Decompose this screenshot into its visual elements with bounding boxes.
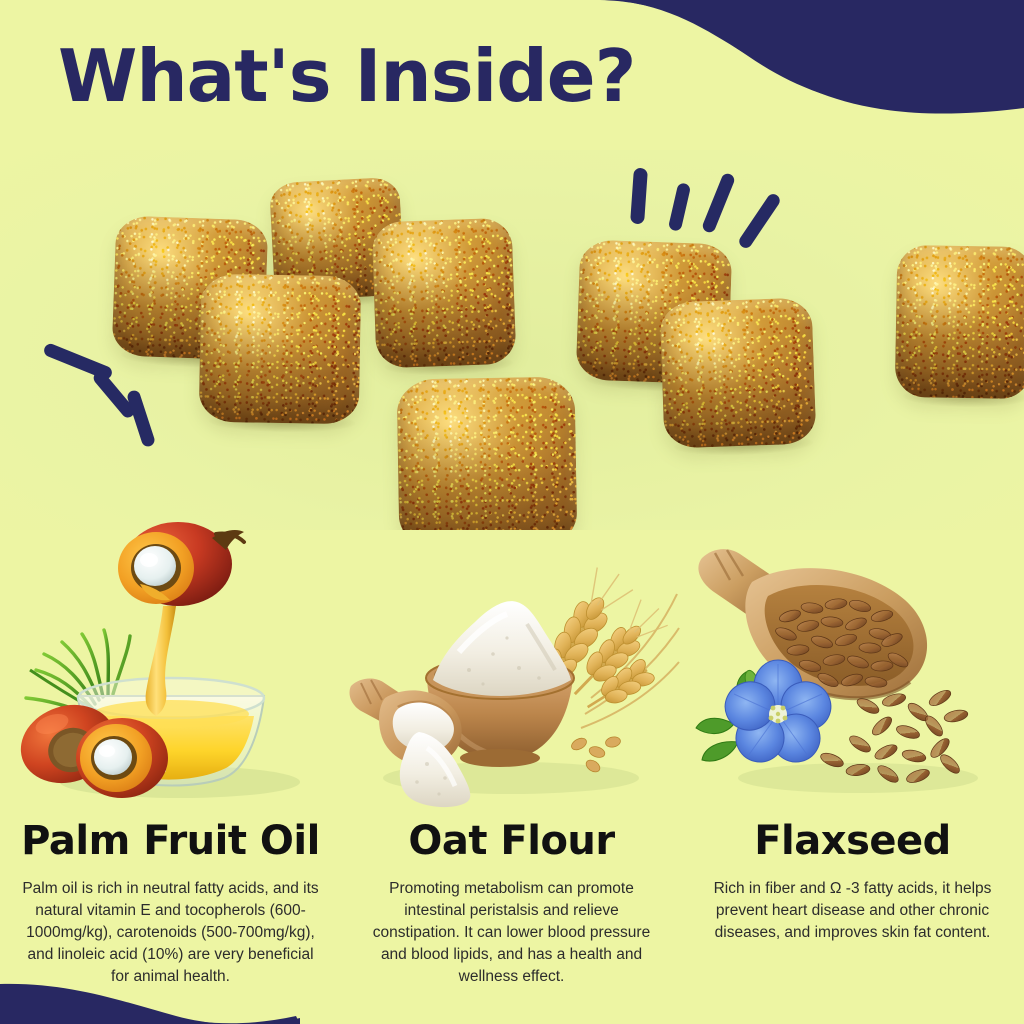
ingredient-title: Palm Fruit Oil: [0, 818, 341, 864]
palm-fruit-cut-icon: [76, 718, 168, 798]
palm-fruit-oil-icon: [0, 520, 341, 810]
palm-fruit-top-icon: [118, 522, 244, 606]
ingredient-description: Rich in fiber and Ω -3 fatty acids, it h…: [700, 878, 1005, 944]
treat-cube: [199, 274, 362, 425]
ingredient-title: Oat Flour: [341, 818, 682, 864]
hero-product-photo: [0, 150, 1024, 530]
ingredient-description: Promoting metabolism can promote intesti…: [359, 878, 664, 988]
infographic-page: What's Inside?: [0, 0, 1024, 1024]
ingredient-description: Palm oil is rich in neutral fatty acids,…: [18, 878, 323, 988]
treat-cube: [659, 297, 816, 448]
ingredient-column-flaxseed: Flaxseed Rich in fiber and Ω -3 fatty ac…: [682, 520, 1023, 1024]
ingredient-column-oat-flour: Oat Flour Promoting metabolism can promo…: [341, 520, 682, 1024]
oat-flour-icon: [341, 520, 682, 810]
ingredient-columns: Palm Fruit Oil Palm oil is rich in neutr…: [0, 520, 1024, 1024]
treat-cube: [397, 376, 578, 530]
flour-mound-icon: [433, 601, 571, 696]
treat-cube: [371, 218, 516, 369]
treat-cube: [895, 245, 1024, 399]
flaxseed-icon: [682, 520, 1023, 810]
ingredient-column-palm-fruit-oil: Palm Fruit Oil Palm oil is rich in neutr…: [0, 520, 341, 1024]
page-title: What's Inside?: [58, 40, 635, 112]
ingredient-title: Flaxseed: [682, 818, 1023, 864]
